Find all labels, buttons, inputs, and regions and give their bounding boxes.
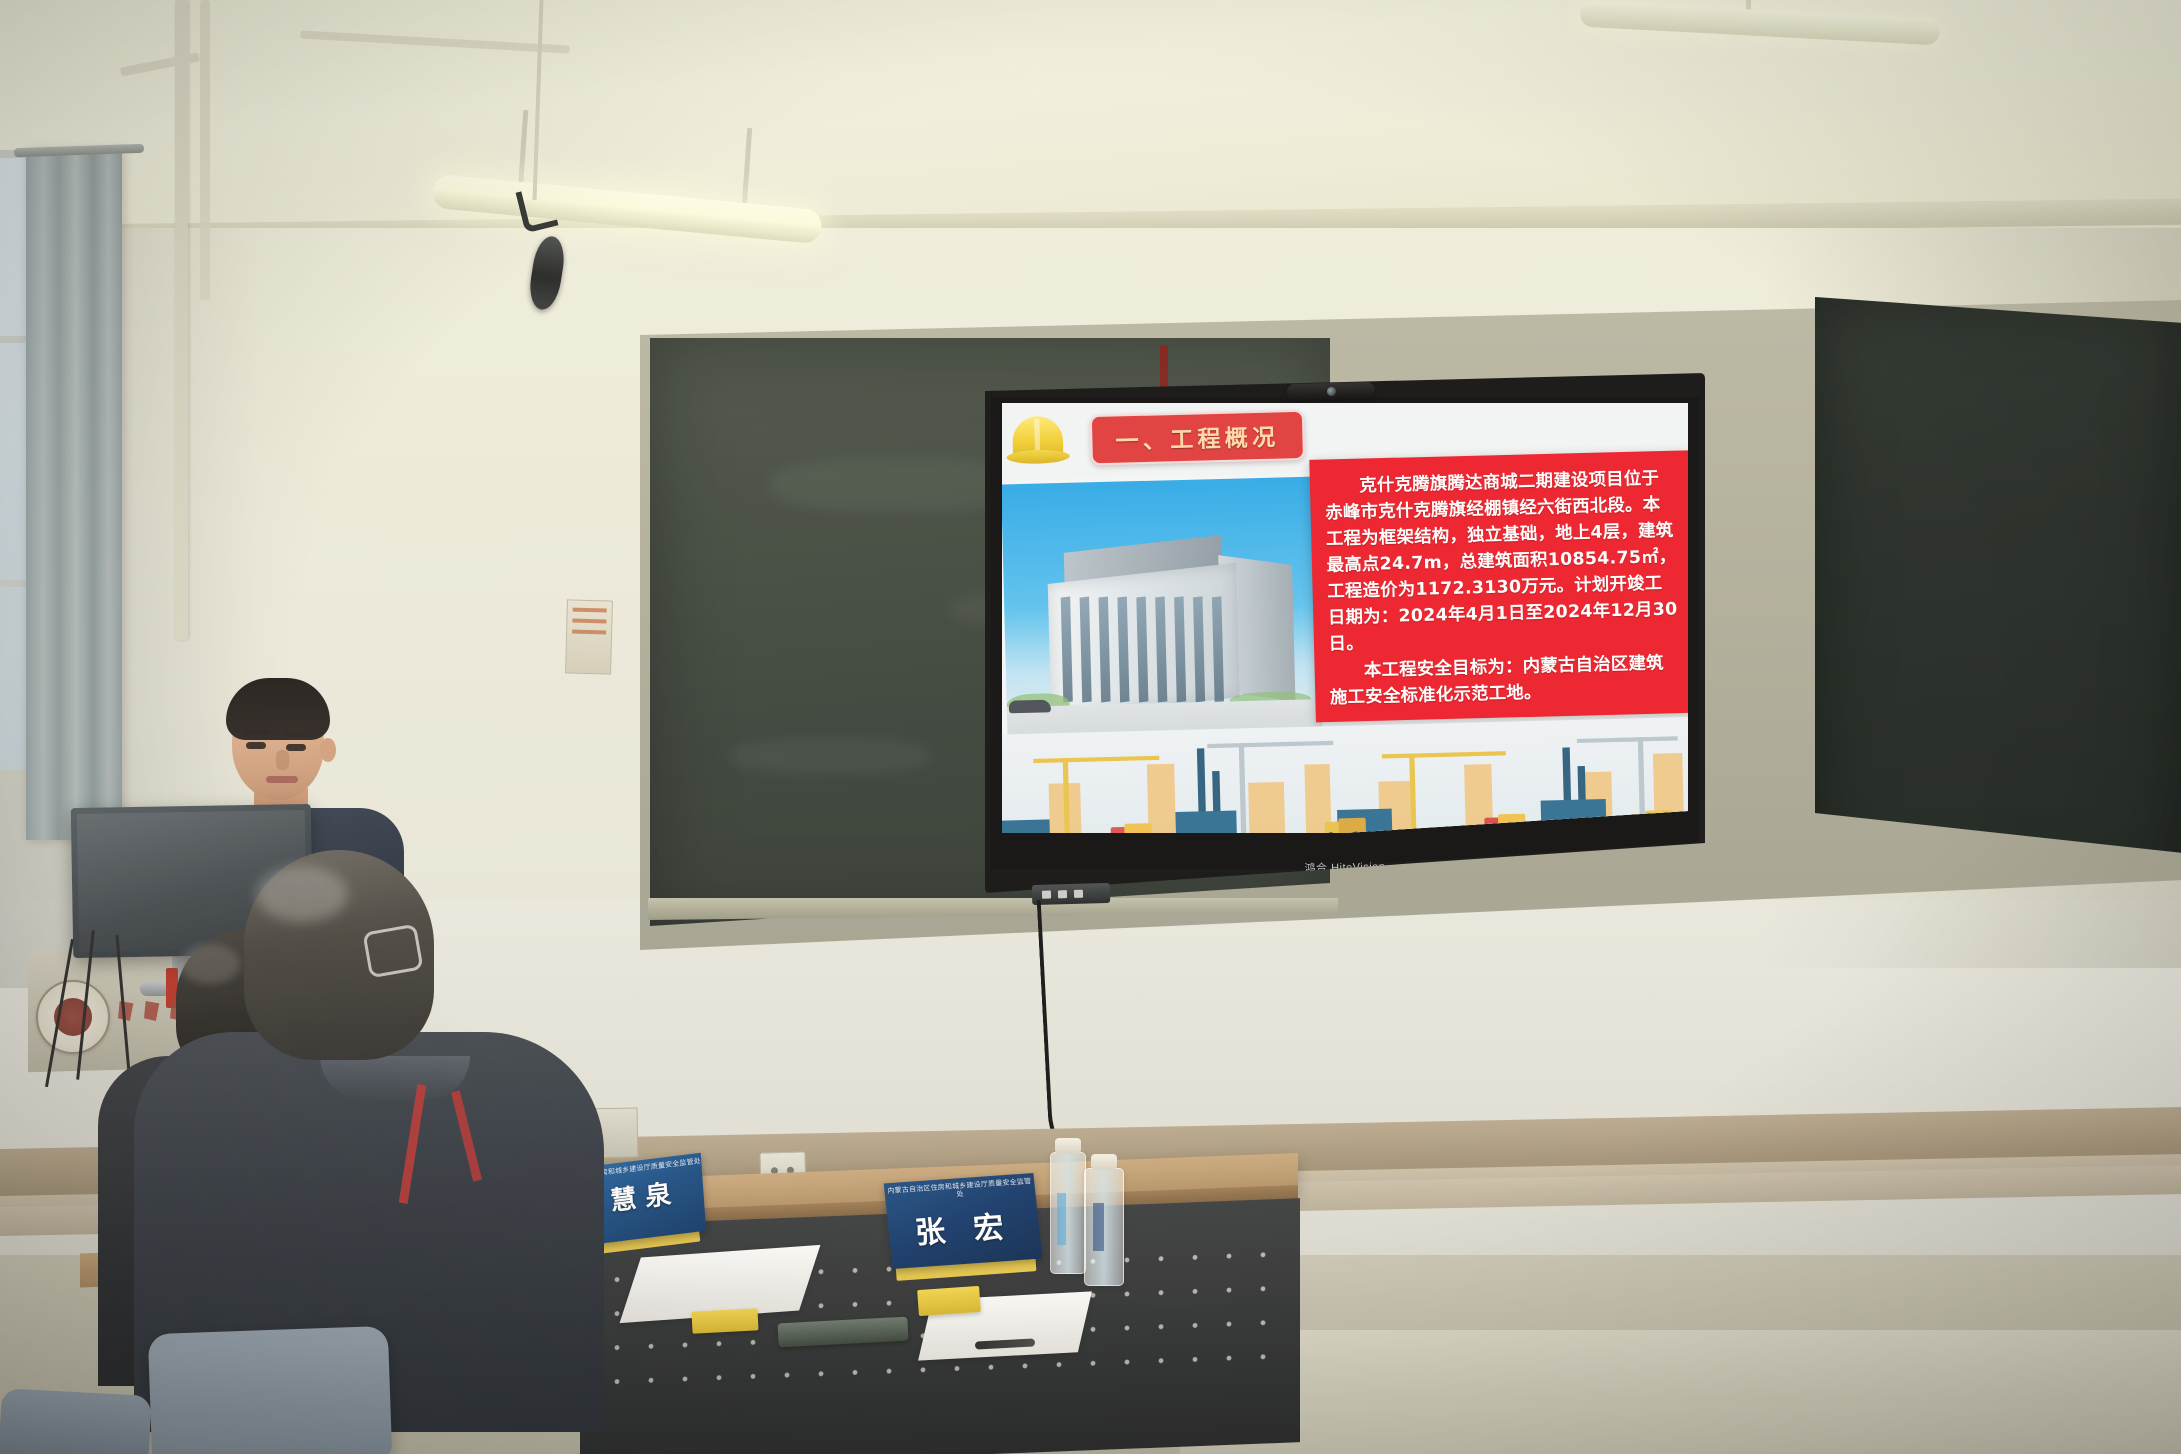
chair[interactable]: [148, 1326, 392, 1454]
rendering-car: [1009, 700, 1051, 714]
presenter-mouth: [266, 776, 298, 783]
wall-conduit-pipe: [175, 0, 188, 640]
overview-paragraph-1: 克什克腾旗腾达商城二期建设项目位于赤峰市克什克腾旗经棚镇经六街西北段。本工程为框…: [1324, 464, 1679, 657]
water-bottle: [1084, 1168, 1124, 1286]
chalkboard-panel-right: [1815, 293, 2181, 893]
smart-display[interactable]: 一、工程概况: [985, 373, 1705, 893]
presenter-nose: [276, 750, 289, 770]
slide-section-title: 一、工程概况: [1115, 425, 1279, 455]
water-bottle: [1050, 1152, 1086, 1274]
presentation-slide: 一、工程概况: [1002, 403, 1688, 833]
yellow-sticky-pad: [691, 1308, 758, 1333]
building-rendering-image: [1002, 477, 1323, 747]
wall-notice-plaque: [565, 599, 613, 674]
window-curtain: [26, 150, 122, 840]
display-screen[interactable]: 一、工程概况: [1002, 403, 1688, 833]
slide-section-title-pill: 一、工程概况: [1090, 410, 1305, 466]
overview-paragraph-2: 本工程安全目标为：内蒙古自治区建筑施工安全标准化示范工地。: [1329, 649, 1681, 711]
chair[interactable]: [0, 1388, 152, 1454]
project-overview-panel: 克什克腾旗腾达商城二期建设项目位于赤峰市克什克腾旗经棚镇经六街西北段。本工程为框…: [1309, 450, 1688, 722]
yellow-sticky-pad: [917, 1286, 981, 1316]
presenter-hair: [226, 678, 330, 740]
construction-site-illustration: [1002, 717, 1688, 833]
nameplate-name: 张 宏: [886, 1200, 1040, 1254]
presenter-ear: [320, 738, 336, 762]
nameplate: 内蒙古自治区住房和城乡建设厅质量安全监管处 张 宏: [884, 1173, 1043, 1269]
institution-emblem-icon: [36, 980, 110, 1054]
floor-right: [1180, 1330, 2181, 1454]
hard-hat-icon: [1006, 416, 1070, 466]
webcam-icon: [1287, 382, 1375, 401]
wall-conduit-pipe: [200, 0, 210, 300]
rendering-window-grid: [1056, 574, 1237, 710]
eyeglasses: [362, 924, 423, 979]
classroom-photo-scene: 一、工程概况: [0, 0, 2181, 1454]
